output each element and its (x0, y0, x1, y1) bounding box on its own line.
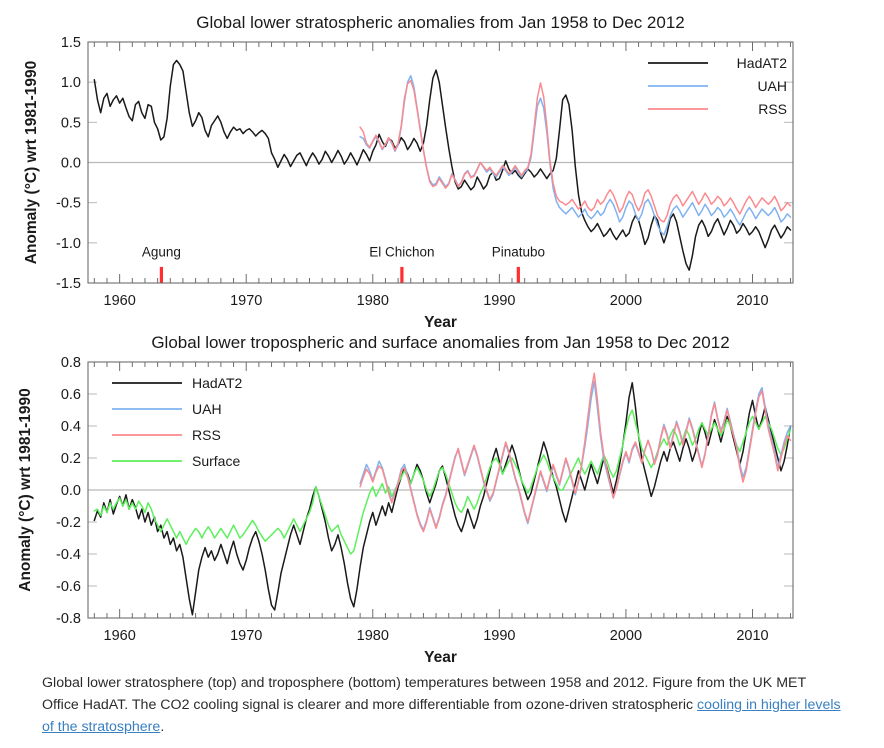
y-tick-label: 0.2 (61, 451, 81, 467)
series-hadat2 (94, 60, 790, 270)
y-tick-label: -0.8 (56, 611, 81, 627)
climate-figure: Global lower stratospheric anomalies fro… (0, 0, 884, 670)
series-hadat2 (94, 383, 790, 615)
x-tick-label: 2010 (736, 293, 768, 309)
y-axis-label: Anomaly (°C) wrt 1981-1990 (17, 388, 34, 591)
y-tick-label: -0.2 (56, 515, 81, 531)
y-axis-label: Anomaly (°C) wrt 1981-1990 (23, 61, 40, 264)
legend-label-uah: UAH (757, 78, 787, 94)
x-tick-label: 2000 (610, 628, 642, 644)
y-tick-label: 0.4 (61, 419, 81, 435)
series-rss (360, 373, 790, 531)
y-tick-label: 0.0 (61, 156, 81, 172)
volcano-label: El Chichon (369, 244, 434, 259)
legend-label-uah: UAH (192, 401, 222, 417)
legend-label-rss: RSS (192, 427, 221, 443)
y-tick-label: 0.0 (61, 483, 81, 499)
x-tick-label: 1990 (483, 628, 515, 644)
y-tick-label: -1.5 (56, 276, 81, 292)
series-rss (360, 81, 790, 222)
y-tick-label: 1.0 (61, 75, 81, 91)
y-tick-label: -0.6 (56, 579, 81, 595)
legend-label-hadat2: HadAT2 (192, 375, 243, 391)
legend-label-rss: RSS (758, 101, 787, 117)
x-tick-label: 1980 (357, 293, 389, 309)
figure-page: Global lower stratospheric anomalies fro… (0, 0, 884, 748)
x-tick-label: 1990 (483, 293, 515, 309)
legend-label-surface: Surface (192, 453, 240, 469)
y-tick-label: -1.0 (56, 236, 81, 252)
y-tick-label: 0.6 (61, 387, 81, 403)
y-tick-label: -0.4 (56, 547, 81, 563)
x-tick-label: 1960 (104, 293, 136, 309)
stratosphere-chart: Global lower stratospheric anomalies fro… (0, 0, 884, 330)
x-tick-label: 2000 (610, 293, 642, 309)
stratosphere-plot: Global lower stratospheric anomalies fro… (0, 0, 884, 330)
troposphere-plot: Global lower tropospheric and surface an… (0, 330, 884, 670)
x-tick-label: 1960 (104, 628, 136, 644)
troposphere-chart: Global lower tropospheric and surface an… (0, 330, 884, 670)
x-tick-label: 1970 (230, 293, 262, 309)
y-tick-label: -0.5 (56, 196, 81, 212)
caption-text-before: Global lower stratosphere (top) and trop… (42, 675, 806, 713)
x-axis-label: Year (424, 314, 457, 330)
y-tick-label: 0.5 (61, 115, 81, 131)
series-uah (360, 381, 790, 530)
x-tick-label: 1970 (230, 628, 262, 644)
y-tick-label: 1.5 (61, 35, 81, 51)
x-tick-label: 1980 (357, 628, 389, 644)
figure-caption: Global lower stratosphere (top) and trop… (42, 672, 842, 738)
legend-label-hadat2: HadAT2 (737, 55, 788, 71)
chart-title: Global lower stratospheric anomalies fro… (196, 13, 685, 32)
x-axis-label: Year (424, 649, 457, 666)
volcano-label: Pinatubo (492, 244, 545, 259)
y-tick-label: 0.8 (61, 355, 81, 371)
chart-title: Global lower tropospheric and surface an… (151, 333, 729, 352)
caption-text-after: . (160, 719, 164, 735)
volcano-label: Agung (142, 244, 181, 259)
x-tick-label: 2010 (736, 628, 768, 644)
